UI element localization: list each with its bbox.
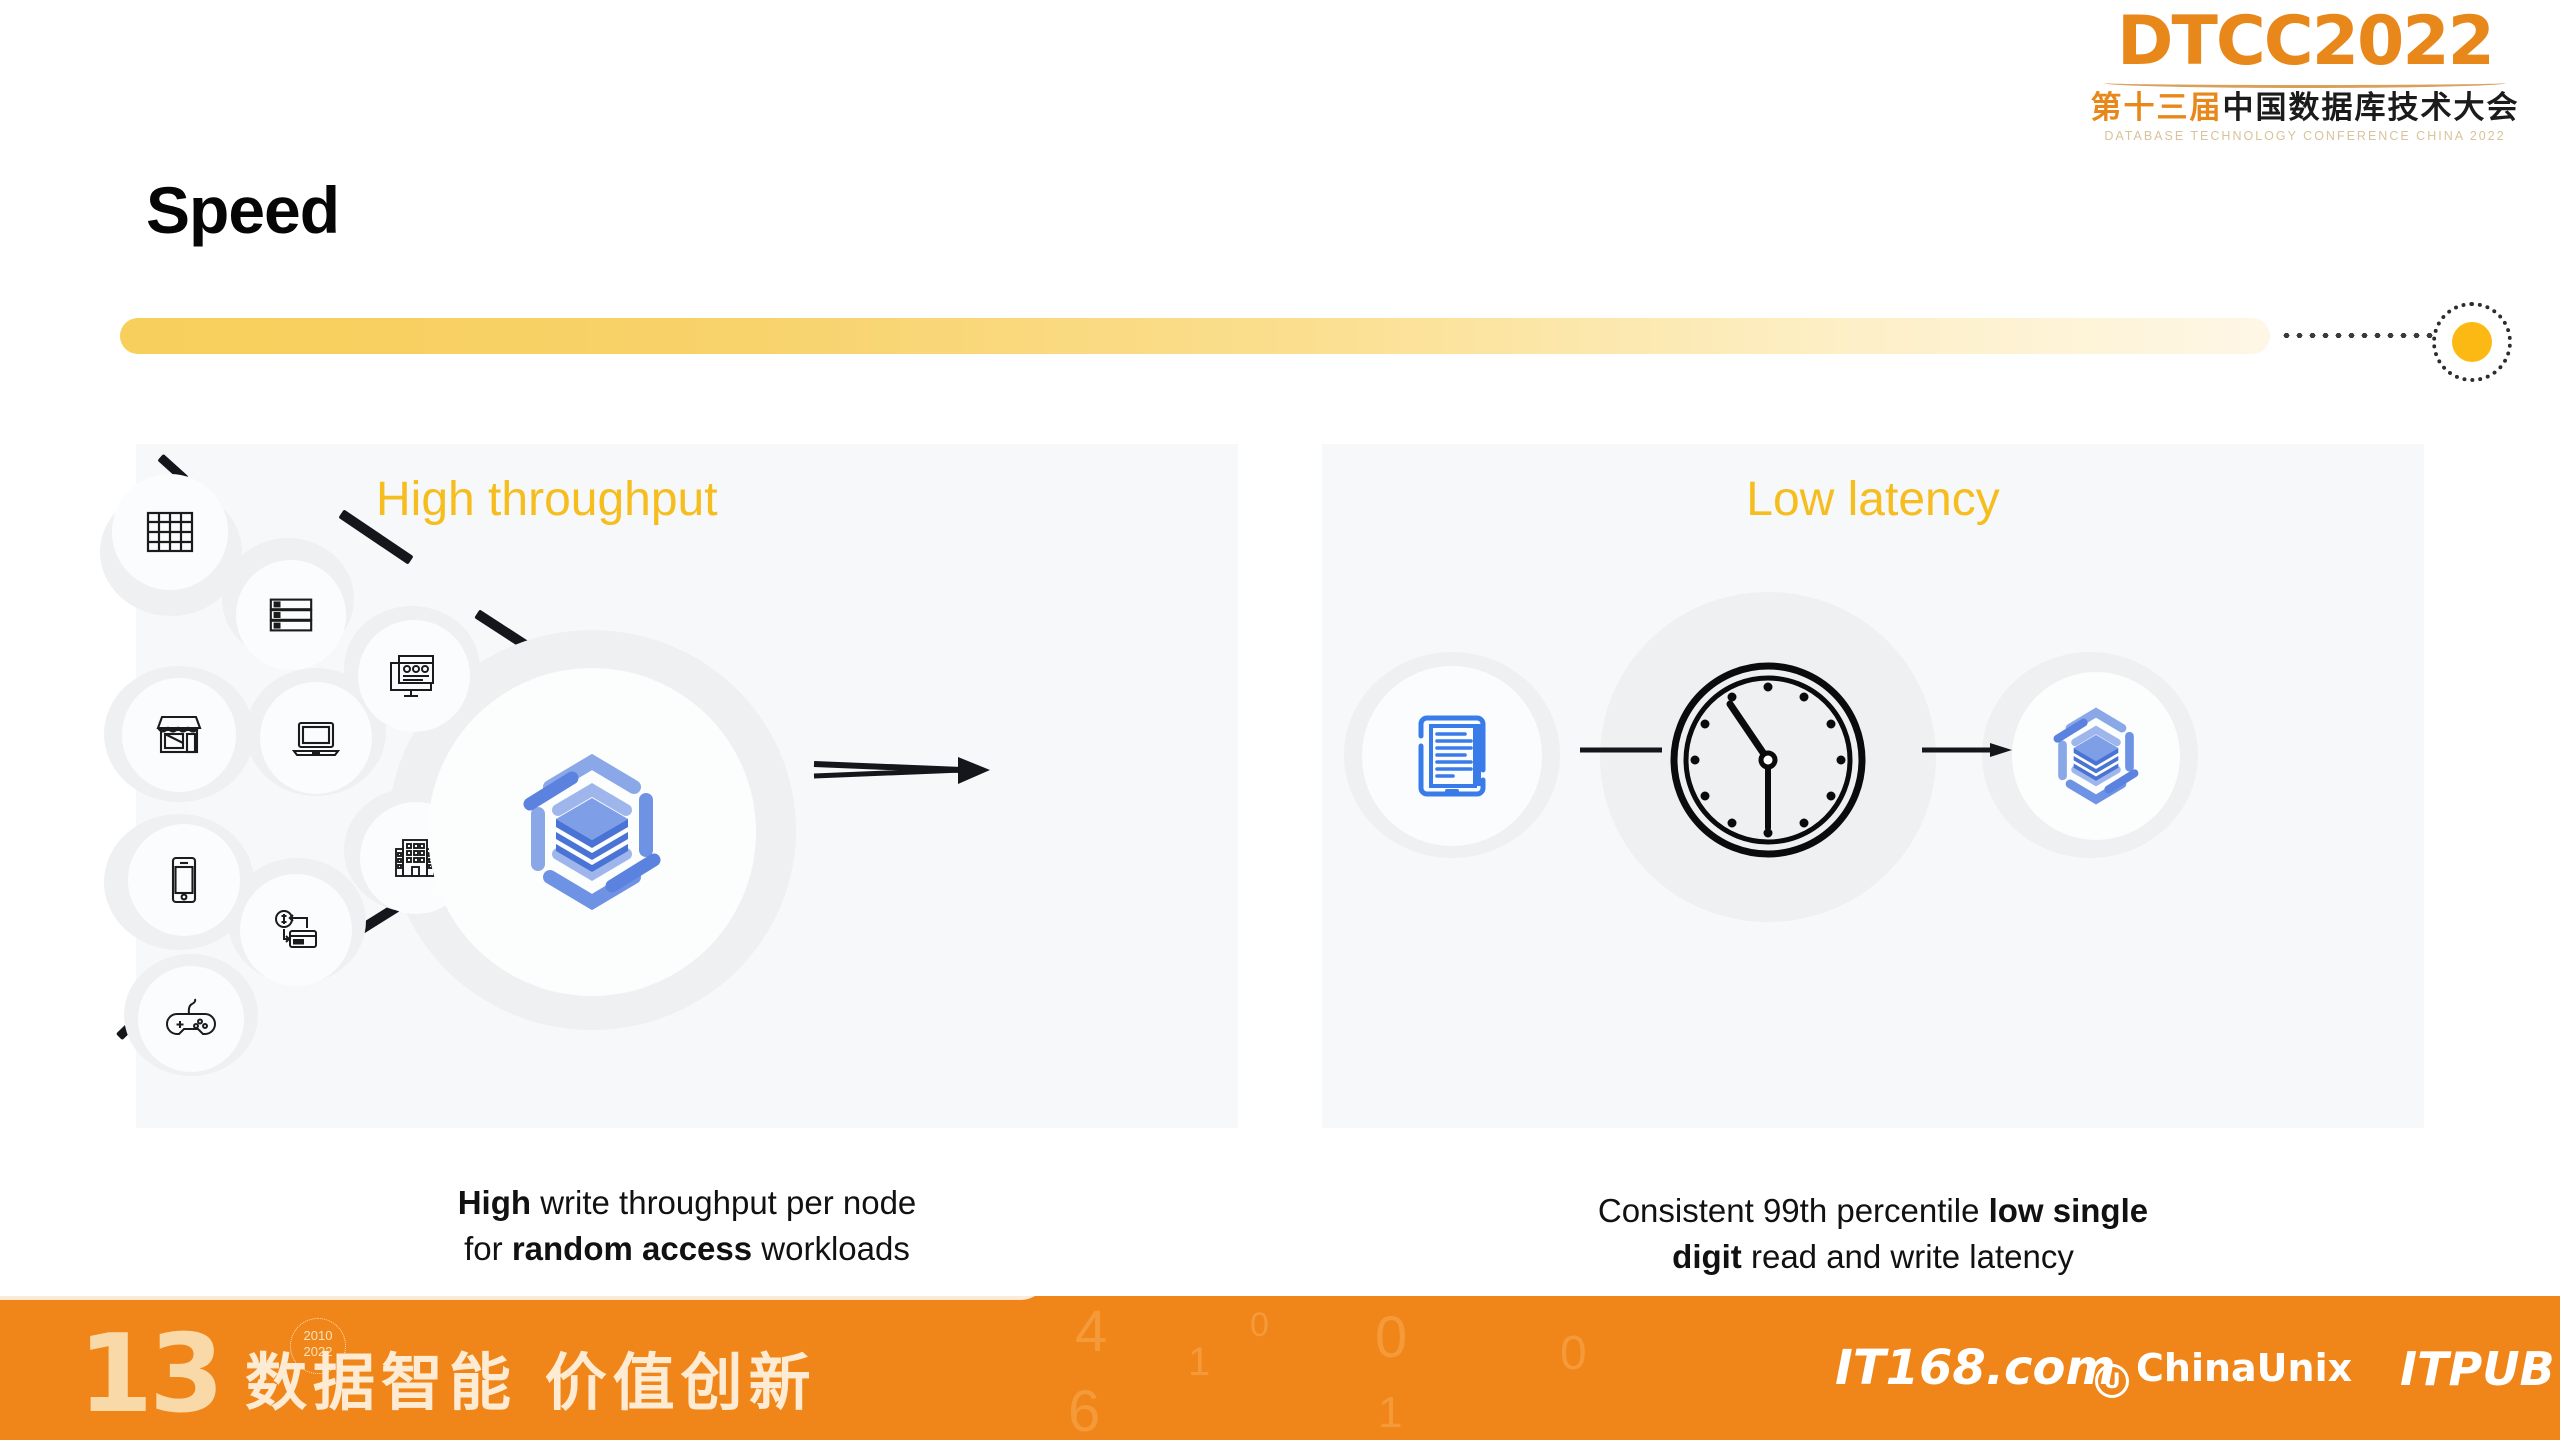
database-hexagon-logo <box>2034 694 2158 818</box>
chip-laptop[interactable] <box>260 682 372 794</box>
caption-segment: workloads <box>752 1230 910 1267</box>
chip-storefront[interactable] <box>122 678 236 792</box>
laptop-icon <box>288 713 344 763</box>
progress-bar-track <box>120 318 2270 354</box>
latency-arrow-right <box>1920 742 2016 758</box>
game-controller-icon <box>163 996 219 1042</box>
dtcc-logo-year: 2022 <box>2312 2 2493 81</box>
panel-title-low-latency: Low latency <box>1322 472 2424 527</box>
caption-segment: random access <box>512 1230 752 1267</box>
banner-top-fade <box>0 1296 1050 1300</box>
dtcc-logo-brand: DTCC <box>2117 2 2312 81</box>
chip-smartphone[interactable] <box>128 824 240 936</box>
smartphone-icon <box>164 853 204 907</box>
banner-watermark-digit: 0 <box>1560 1326 1587 1381</box>
caption-segment: High <box>458 1184 531 1221</box>
progress-end-dot <box>2452 322 2492 362</box>
chip-game-controller[interactable] <box>138 966 244 1072</box>
chip-payment-card[interactable] <box>240 874 352 986</box>
payment-card-icon <box>268 905 324 955</box>
caption-high-throughput: High write throughput per nodefor random… <box>136 1180 1238 1271</box>
conference-footer-banner: 4 1 0 0 0 6 1 13 2010 2022 数据智能 价值创新 IT1… <box>0 1296 2560 1440</box>
database-hexagon-logo <box>492 732 692 932</box>
panel-title-high-throughput: High throughput <box>376 472 718 527</box>
dtcc-logo-chinese-edition: 第十三届 <box>2091 90 2223 125</box>
partner-logo-chinaunix-label: ChinaUnix <box>2136 1346 2352 1390</box>
caption-low-latency: Consistent 99th percentile low singledig… <box>1322 1188 2424 1279</box>
progress-indicator <box>120 316 2460 360</box>
panel-high-throughput: High throughput <box>136 444 1238 1128</box>
dtcc-conference-logo: DTCC2022 第十三届中国数据库技术大会 DATABASE TECHNOLO… <box>2090 8 2520 143</box>
chip-document-tablet[interactable] <box>1362 666 1542 846</box>
caption-segment: write throughput per node <box>531 1184 916 1221</box>
banner-watermark-digit: 1 <box>1188 1340 1210 1385</box>
desktop-dashboard-icon <box>387 650 441 702</box>
partner-logo-chinaunix[interactable]: UChinaUnix <box>2095 1346 2352 1398</box>
grid-table-icon <box>144 506 196 558</box>
caption-segment: read and write latency <box>1742 1238 2074 1275</box>
banner-watermark-digit: 0 <box>1250 1306 1269 1345</box>
caption-segment: low single <box>1989 1192 2149 1229</box>
panel-low-latency: Low latency <box>1322 444 2424 1128</box>
clock-icon <box>1668 660 1868 860</box>
latency-arrow-left <box>1578 744 1664 756</box>
chip-database-hexagon-right[interactable] <box>2012 672 2180 840</box>
chip-database-hexagon-center[interactable] <box>428 668 756 996</box>
dtcc-logo-chinese-name: 中国数据库技术大会 <box>2223 90 2520 125</box>
chip-server-database[interactable] <box>236 560 346 670</box>
chinaunix-u-mark: U <box>2095 1364 2129 1398</box>
partner-logo-itpub[interactable]: ITPUB <box>2400 1342 2555 1396</box>
progress-dotted-connector <box>2280 333 2436 338</box>
chip-grid-table[interactable] <box>112 474 228 590</box>
caption-segment: digit <box>1672 1238 1742 1275</box>
throughput-output-arrow <box>812 744 1012 796</box>
banner-edition-number: 13 <box>78 1312 220 1437</box>
partner-logo-itpub-label: ITPUB <box>2400 1342 2555 1396</box>
dtcc-logo-brandline: DTCC2022 <box>2090 8 2520 76</box>
dtcc-logo-chinese: 第十三届中国数据库技术大会 <box>2090 92 2520 125</box>
document-tablet-icon <box>1409 706 1495 806</box>
banner-watermark-digit: 1 <box>1378 1388 1402 1438</box>
partner-logo-it168[interactable]: IT168.com <box>1835 1340 2115 1396</box>
partner-logo-it168-label: IT168.com <box>1835 1340 2115 1396</box>
banner-watermark-digit: 6 <box>1068 1378 1100 1440</box>
banner-watermark-digit: 0 <box>1375 1304 1407 1371</box>
caption-segment: Consistent 99th percentile <box>1598 1192 1989 1229</box>
chip-desktop-dashboard[interactable] <box>358 620 470 732</box>
banner-watermark-digit: 4 <box>1075 1298 1107 1365</box>
banner-slogan: 数据智能 价值创新 <box>245 1332 817 1422</box>
server-database-icon <box>266 590 316 640</box>
storefront-icon <box>152 709 206 761</box>
chip-clock[interactable] <box>1652 644 1884 876</box>
page-title: Speed <box>146 172 339 248</box>
caption-segment: for <box>464 1230 512 1267</box>
dtcc-logo-english: DATABASE TECHNOLOGY CONFERENCE CHINA 202… <box>2090 129 2520 143</box>
